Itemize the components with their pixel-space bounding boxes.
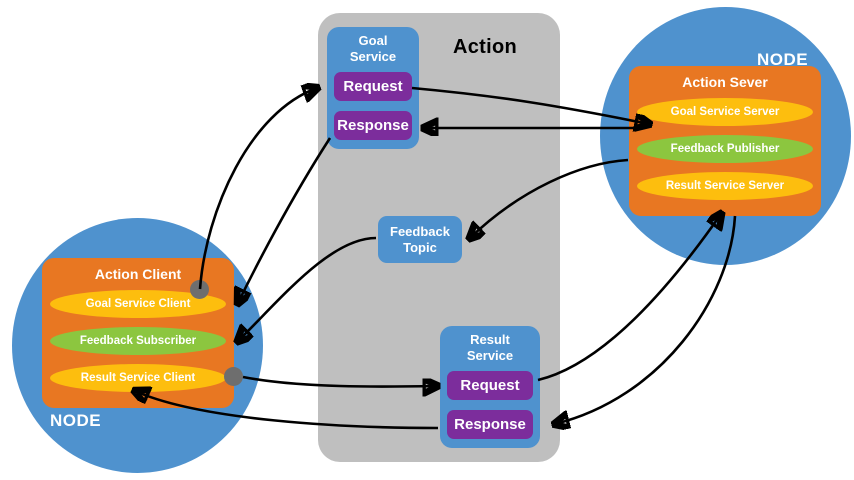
diagram-canvas: Action NODE Action Client Goal Service C… bbox=[0, 0, 854, 480]
goal-service-request[interactable]: Request bbox=[334, 72, 412, 101]
result-service-client-pill[interactable]: Result Service Client bbox=[50, 364, 226, 392]
action-client-title: Action Client bbox=[42, 266, 234, 282]
feedback-topic-box[interactable]: Feedback Topic bbox=[378, 216, 462, 263]
result-service-server-pill[interactable]: Result Service Server bbox=[637, 172, 813, 200]
goal-service-box: Goal Service Request Response bbox=[327, 27, 419, 149]
result-service-request[interactable]: Request bbox=[447, 371, 533, 400]
feedback-publisher-pill[interactable]: Feedback Publisher bbox=[637, 135, 813, 163]
goal-service-response[interactable]: Response bbox=[334, 111, 412, 140]
feedback-topic-line2: Topic bbox=[403, 240, 437, 256]
result-service-response[interactable]: Response bbox=[447, 410, 533, 439]
arrow-goal-response-to-goal-client bbox=[238, 138, 330, 303]
client-node-label: NODE bbox=[50, 411, 101, 431]
feedback-topic-line1: Feedback bbox=[390, 224, 450, 240]
result-client-connector-dot bbox=[224, 367, 243, 386]
result-service-box: Result Service Request Response bbox=[440, 326, 540, 448]
feedback-subscriber-pill[interactable]: Feedback Subscriber bbox=[50, 327, 226, 355]
goal-service-title: Goal Service bbox=[327, 33, 419, 65]
goal-service-server-pill[interactable]: Goal Service Server bbox=[637, 98, 813, 126]
goal-service-title-line1: Goal bbox=[359, 33, 388, 48]
result-service-title-line1: Result bbox=[470, 332, 510, 347]
action-title: Action bbox=[430, 36, 540, 59]
result-service-title: Result Service bbox=[440, 332, 540, 364]
result-service-title-line2: Service bbox=[440, 348, 540, 364]
action-server-title: Action Sever bbox=[629, 74, 821, 90]
goal-client-connector-dot bbox=[190, 280, 209, 299]
action-client-box: Action Client Goal Service Client Feedba… bbox=[42, 258, 234, 408]
action-server-box: Action Sever Goal Service Server Feedbac… bbox=[629, 66, 821, 216]
goal-service-title-line2: Service bbox=[327, 49, 419, 65]
